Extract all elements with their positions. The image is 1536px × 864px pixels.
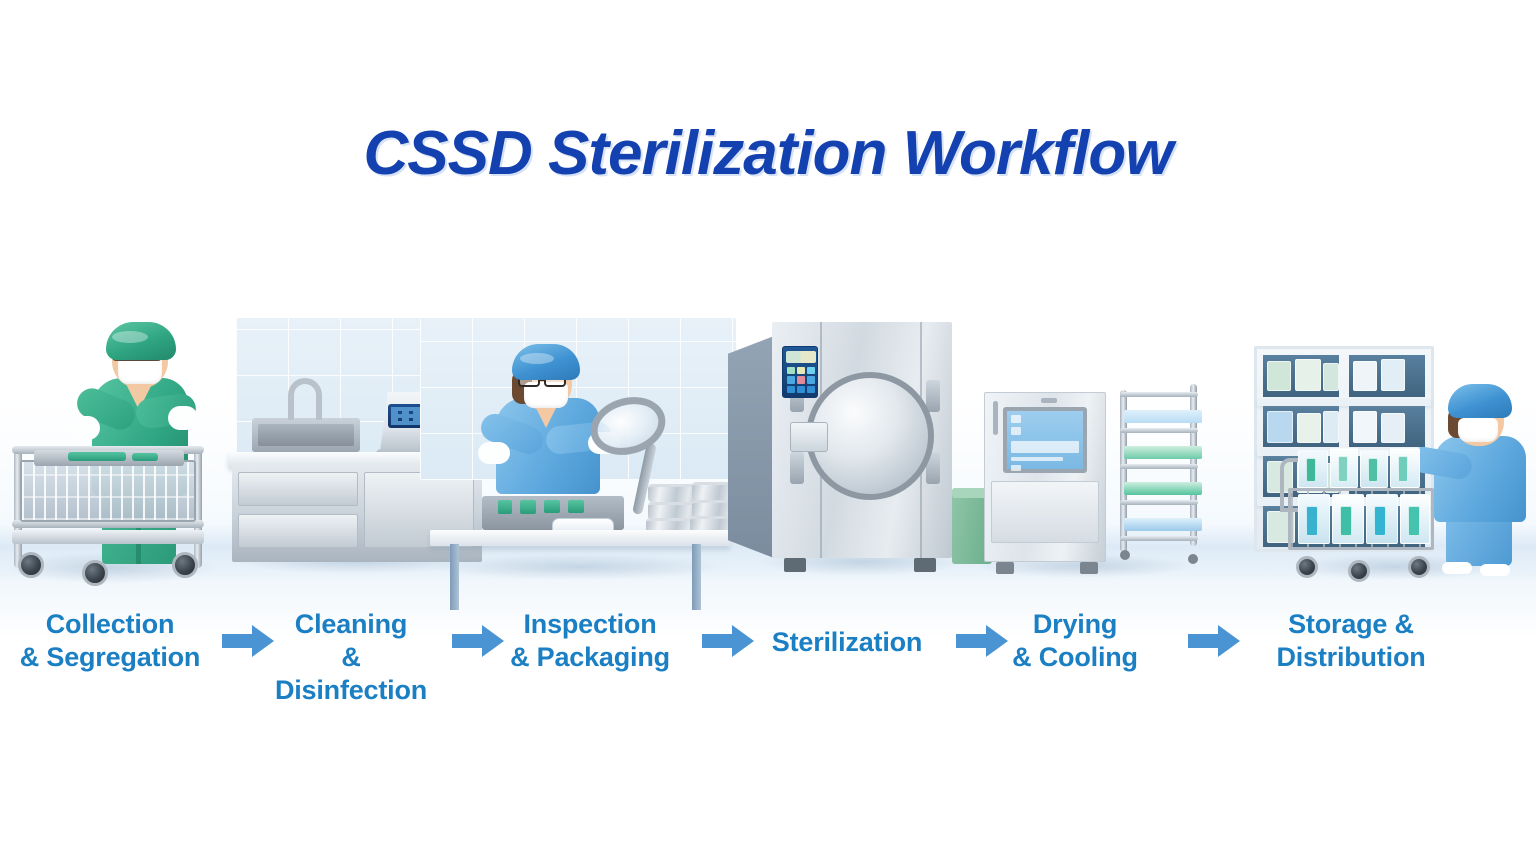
instrument: [544, 500, 560, 513]
screen-element: [1011, 457, 1063, 461]
basket-mesh: [22, 462, 194, 520]
cabinet-foot: [1080, 562, 1098, 574]
screen-element: [1011, 427, 1021, 435]
cabinet-handle[interactable]: [993, 401, 998, 435]
table-shadow: [430, 554, 726, 580]
instrument: [498, 500, 512, 514]
faucet-icon: [288, 378, 322, 420]
storage-box: [1323, 363, 1339, 391]
scene-collection-segregation: [2, 308, 228, 580]
control-display: [786, 351, 816, 363]
cabinet-foot: [996, 562, 1014, 574]
infographic-canvas: CSSD Sterilization Workflow: [0, 0, 1536, 864]
surgical-cap-icon: [1448, 384, 1512, 418]
scene-inspection-packaging: [420, 310, 750, 580]
door-hinge: [790, 452, 804, 484]
rack-tray-green: [1124, 446, 1202, 459]
arrow-2-icon: [452, 624, 504, 658]
green-instrument-pack: [68, 452, 126, 461]
arrow-3-icon: [702, 624, 754, 658]
cart-wheel: [1296, 556, 1318, 578]
autoclave-door-handle[interactable]: [790, 422, 828, 452]
cart-lower-shelf: [12, 530, 204, 544]
cart-wheel: [18, 552, 44, 578]
storage-box: [1323, 411, 1339, 443]
step-label-drying: Drying & Cooling: [1000, 608, 1150, 674]
glove-left-icon: [478, 442, 510, 464]
cabinet-door[interactable]: [991, 481, 1099, 543]
package-indicator: [1306, 506, 1318, 536]
autoclave-foot: [784, 558, 806, 572]
storage-box: [1381, 413, 1405, 443]
cabinet-display-screen[interactable]: [1003, 407, 1087, 473]
worker-torso: [1434, 436, 1526, 522]
drawer[interactable]: [238, 514, 358, 548]
worker-legs: [1446, 516, 1512, 566]
arrow-5-icon: [1188, 624, 1240, 658]
storage-box: [1267, 361, 1291, 391]
screen-element: [1011, 415, 1021, 423]
technician-blue-scrubs: [492, 344, 602, 494]
step-label-collection: Collection & Segregation: [8, 608, 212, 674]
package-indicator: [1374, 506, 1386, 536]
package-indicator: [1306, 458, 1316, 482]
instrument: [520, 500, 536, 514]
scene-drying-cooling: [952, 350, 1200, 580]
rack-tray-blue: [1124, 410, 1202, 423]
cart-basket: [20, 460, 196, 522]
cooling-rack: [1118, 384, 1200, 564]
rack-bar: [1120, 464, 1198, 469]
inspection-table: [430, 530, 730, 546]
rack-bar: [1120, 500, 1198, 505]
face-mask-icon: [1458, 418, 1498, 442]
step-label-sterilization: Sterilization: [754, 626, 940, 659]
rack-wheel: [1188, 554, 1198, 564]
autoclave-side: [728, 336, 774, 558]
step-label-inspection: Inspection & Packaging: [500, 608, 680, 674]
screen-element: [1011, 465, 1021, 471]
screen-element: [1011, 441, 1079, 453]
package-indicator: [1368, 458, 1378, 482]
surgical-cap-icon: [106, 322, 176, 360]
rack-bar: [1120, 392, 1198, 397]
step-label-storage: Storage & Distribution: [1256, 608, 1446, 674]
storage-box: [1295, 359, 1321, 391]
shelf-board: [1257, 399, 1431, 406]
worker-shoe: [1480, 564, 1510, 576]
scene-storage-distribution: [1248, 330, 1534, 580]
delivery-cart: [1286, 444, 1438, 576]
scene-sterilization: [728, 298, 960, 580]
worker-shoe: [1442, 562, 1472, 574]
package-indicator: [1340, 506, 1352, 536]
instrument: [568, 500, 584, 513]
sink-basin: [258, 424, 354, 446]
door-hinge: [926, 380, 940, 412]
cart-wheel: [172, 552, 198, 578]
autoclave-foot: [914, 558, 936, 572]
storage-box: [1353, 411, 1377, 443]
storage-box: [1297, 413, 1321, 443]
rack-bar: [1120, 428, 1198, 433]
control-buttons[interactable]: [787, 367, 815, 393]
storage-box: [1267, 411, 1293, 443]
instrument-cart: [4, 420, 212, 580]
drying-cabinet: [984, 392, 1106, 562]
drawer[interactable]: [238, 472, 358, 506]
cabinet-badge: [1041, 398, 1057, 403]
cart-wheel: [1348, 560, 1370, 582]
workflow-steps: Collection & Segregation Cleaning & Disi…: [0, 598, 1536, 688]
illustration-band: [0, 280, 1536, 580]
rack-wheel: [1120, 550, 1130, 560]
rack-tray-green: [1124, 482, 1202, 495]
page-title: CSSD Sterilization Workflow: [0, 118, 1536, 189]
package-indicator: [1408, 506, 1420, 536]
step-label-cleaning: Cleaning & Disinfection: [262, 608, 440, 707]
green-instrument-pack: [132, 453, 158, 461]
cleaning-sink: [252, 418, 360, 452]
cart-wheel: [1408, 556, 1430, 578]
worker-blue-scrubs: [1432, 384, 1528, 570]
cart-wheel: [82, 560, 108, 586]
rack-bar: [1120, 536, 1198, 541]
package-indicator: [1398, 456, 1408, 482]
rack-tray-blue: [1124, 518, 1202, 531]
storage-box: [1381, 359, 1405, 391]
package-indicator: [1338, 456, 1348, 482]
surgical-cap-icon: [512, 344, 580, 380]
autoclave-control-panel[interactable]: [782, 346, 818, 398]
storage-box: [1353, 361, 1377, 391]
